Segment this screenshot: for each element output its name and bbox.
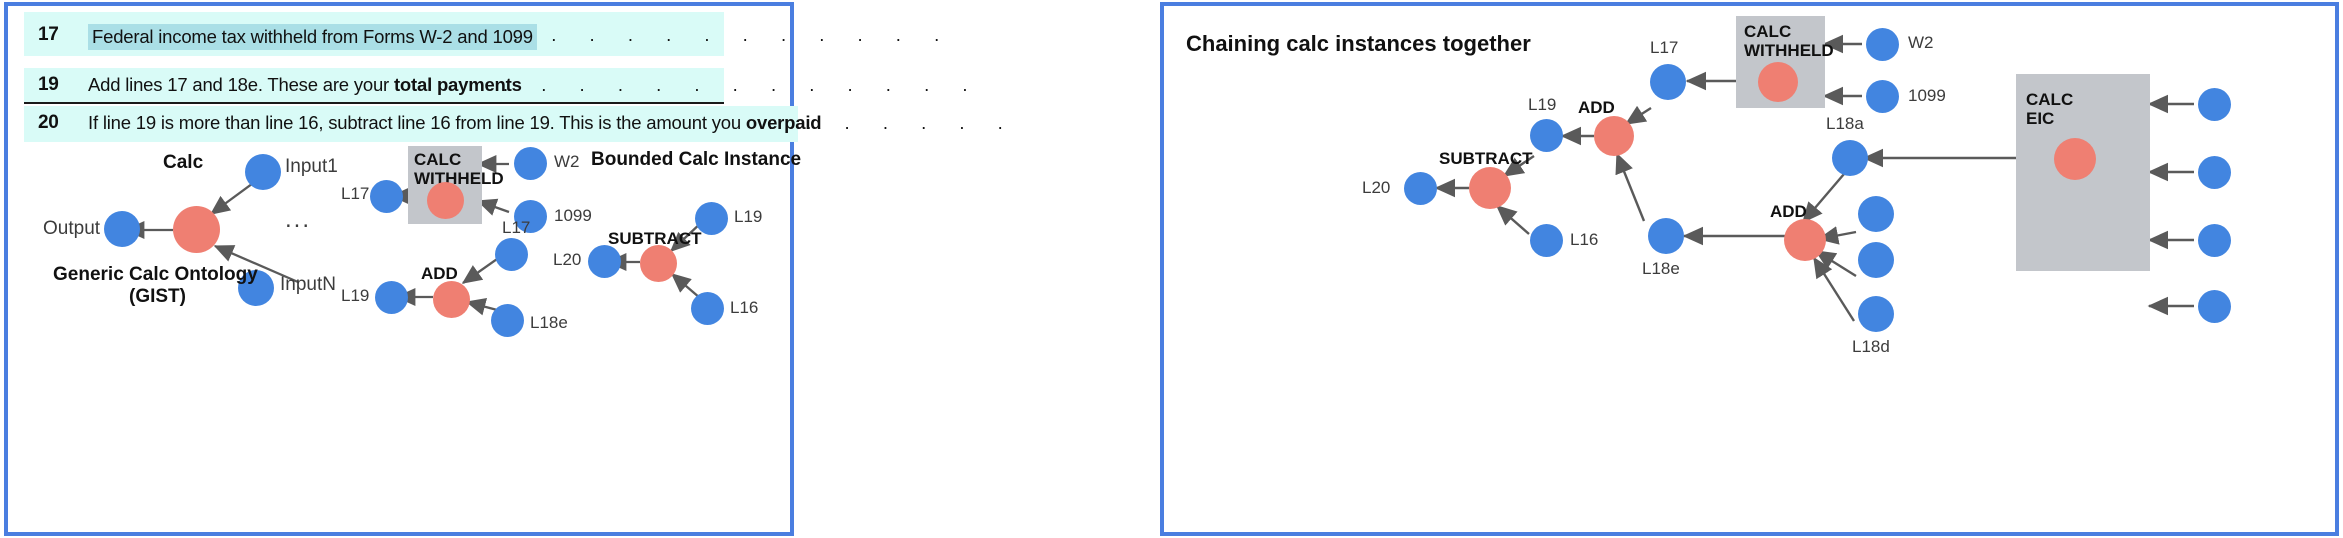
w2-node-left [514,147,547,180]
l19b-node-left [695,202,728,235]
generic-input1-label: Input1 [285,156,338,178]
calc-eic-feeder-2 [2198,156,2231,189]
w2-node-right [1866,28,1899,61]
l17-label-left: L17 [341,184,369,204]
calc-eic-line2: EIC [2026,109,2054,128]
l18a-node-right [1832,140,1868,176]
l18e-label-left: L18e [530,313,568,333]
form-row-20-number: 20 [38,112,59,134]
calc-withheld-box-right-label: CALC WITHHELD [1744,22,1834,60]
calc-eic-box-label: CALC EIC [2026,90,2073,128]
l18e-label-right: L18e [1642,259,1680,279]
calc-withheld-right-line2: WITHHELD [1744,41,1834,60]
calc-withheld-left-line2: WITHHELD [414,169,504,188]
form-row-20-text-plain: If line 19 is more than line 16, subtrac… [88,112,746,133]
form-row-20-dots: . . . . . . . [768,112,1017,134]
l20-label-left: L20 [553,250,581,270]
generic-calc-label: Calc [163,152,203,174]
l18e-node-right [1648,218,1684,254]
f1099-label-right: 1099 [1908,86,1946,106]
add-top-label-right: ADD [1578,98,1615,118]
l18d-label-right: L18d [1852,337,1890,357]
l17-node-right [1650,64,1686,100]
l18e-node-left [491,304,524,337]
l19-node-left [375,281,408,314]
calc-withheld-right-node [1758,62,1798,102]
l17b-label-left: L17 [502,218,530,238]
calc-withheld-left-line1: CALC [414,150,461,169]
w2-label-right: W2 [1908,33,1934,53]
add-bottom-node-right [1784,219,1826,261]
right-panel-title: Chaining calc instances together [1186,31,1531,57]
l18a-label-right: L18a [1826,114,1864,134]
generic-ontology-title-line1: Generic Calc Ontology [53,264,258,286]
f1099-node-right [1866,80,1899,113]
calc-eic-line1: CALC [2026,90,2073,109]
calc-eic-feeder-4 [2198,290,2231,323]
l19-label-right: L19 [1528,95,1556,115]
l17-node-left [370,180,403,213]
l20-node-left [588,245,621,278]
calc-eic-node [2054,138,2096,180]
l16-node-right [1530,224,1563,257]
generic-output-label: Output [43,218,100,240]
generic-inputn-label: InputN [280,274,336,296]
calc-withheld-box-left-label: CALC WITHHELD [414,150,504,188]
l18d-node-right [1858,296,1894,332]
calc-withheld-right-line1: CALC [1744,22,1791,41]
add-node-left [433,281,470,318]
slide-canvas: 17 Federal income tax withheld from Form… [0,0,2343,538]
add-bottom-input-mid-node [1858,196,1894,232]
l17b-node-left [495,238,528,271]
l16-node-left [691,292,724,325]
form-row-17-number: 17 [38,24,59,46]
form-row-19-text-plain: Add lines 17 and 18e. These are your [88,74,394,95]
form-row-19-rule [24,102,724,104]
f1099-label-left: 1099 [554,206,592,226]
form-row-17-text: Federal income tax withheld from Forms W… [88,24,537,50]
calc-eic-feeder-1 [2198,88,2231,121]
form-row-20-text: If line 19 is more than line 16, subtrac… [88,112,821,134]
form-row-17-dots: . . . . . . . . . . . . [513,24,953,46]
form-row-19-dots: . . . . . . . . . . . . . [503,74,982,96]
calc-eic-feeder-3 [2198,224,2231,257]
subtract-label-right: SUBTRACT [1439,149,1533,169]
bounded-calc-instance-title: Bounded Calc Instance [591,149,801,171]
right-panel: Chaining calc instances together [1160,2,2339,536]
l19-node-right [1530,119,1563,152]
l16-label-left: L16 [730,298,758,318]
generic-ellipsis: ... [285,206,311,234]
generic-output-node [104,211,140,247]
form-row-19-number: 19 [38,74,59,96]
calc-withheld-left-node [427,182,464,219]
l16-label-right: L16 [1570,230,1598,250]
w2-label-left: W2 [554,152,580,172]
subtract-node-right [1469,167,1511,209]
l20-node-right [1404,172,1437,205]
add-bottom-input-low-node [1858,242,1894,278]
subtract-node-left [640,245,677,282]
add-top-node-right [1594,116,1634,156]
generic-calc-node [173,206,220,253]
l17-label-right: L17 [1650,38,1678,58]
form-row-19-text: Add lines 17 and 18e. These are your tot… [88,74,522,96]
left-panel: 17 Federal income tax withheld from Form… [4,2,794,536]
l20-label-right: L20 [1362,178,1390,198]
generic-ontology-title-line2: (GIST) [129,286,186,308]
generic-input1-node [245,154,281,190]
l19-label-left: L19 [341,286,369,306]
l19b-label-left: L19 [734,207,762,227]
